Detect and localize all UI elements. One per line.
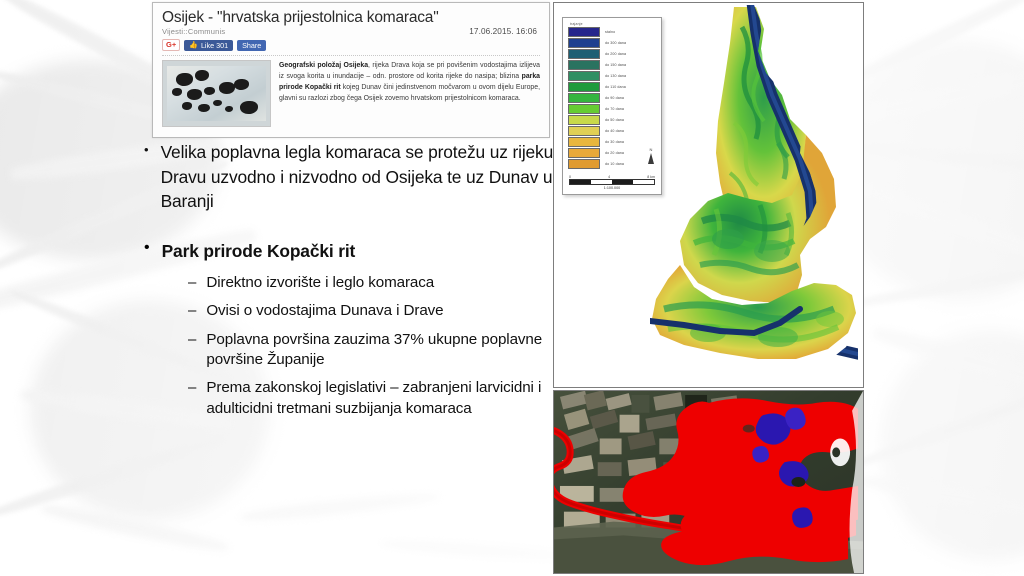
legend-title: trajanje: [570, 22, 657, 26]
scale-bar: 0 4 8 km 1:100.000: [569, 175, 655, 191]
legend-row: do 40 dana: [568, 126, 657, 136]
legend-swatch: [568, 137, 600, 147]
sub-bullet-text: Poplavna površina zauzima 37% ukupne pop…: [206, 330, 560, 371]
legend-row: stalno: [568, 27, 657, 37]
north-label: N: [648, 148, 654, 152]
legend-row: do 200 dana: [568, 49, 657, 59]
legend-label: do 70 dana: [605, 107, 624, 111]
bullet-marker-icon: •: [144, 239, 150, 264]
legend-swatch: [568, 159, 600, 169]
legend-label: do 150 dana: [605, 63, 626, 67]
legend-label: do 130 dana: [605, 74, 626, 78]
legend-row: do 30 dana: [568, 137, 657, 147]
sub-bullet-text: Ovisi o vodostajima Dunava i Drave: [206, 301, 443, 321]
clipping-divider: [162, 55, 540, 56]
sub-bullet-text: Direktno izvorište i leglo komaraca: [206, 273, 434, 293]
clipping-date: 17.06.2015. 16:06: [469, 27, 540, 36]
scale-tick-1: 4: [608, 175, 610, 179]
legend-row: do 130 dana: [568, 71, 657, 81]
thumbs-up-icon: 👍: [189, 42, 198, 49]
legend-label: do 200 dana: [605, 52, 626, 56]
legend-row: do 50 dana: [568, 115, 657, 125]
like-count-label: Like 301: [201, 42, 228, 49]
legend-label: stalno: [605, 30, 615, 34]
legend-swatch: [568, 38, 600, 48]
clipping-source: Vijesti::Communis: [162, 27, 225, 36]
legend-label: do 20 dana: [605, 151, 624, 155]
legend-label: do 300 dana: [605, 41, 626, 45]
legend-row: do 110 dana: [568, 82, 657, 92]
clipping-article-text: Geografski položaj Osijeka, rijeka Drava…: [279, 60, 540, 127]
bullet-2-text: Park prirode Kopački rit: [162, 239, 356, 264]
map-legend: trajanje stalnodo 300 danado 200 danado …: [562, 17, 662, 195]
dash-marker-icon: –: [188, 330, 196, 371]
share-button[interactable]: Share: [237, 40, 266, 51]
scale-ratio-label: 1:100.000: [569, 186, 655, 190]
mosquito-photo: [162, 60, 271, 127]
slide-body: • Velika poplavna legla komaraca se prot…: [140, 140, 560, 427]
dash-marker-icon: –: [188, 301, 196, 321]
legend-label: do 110 dana: [605, 85, 626, 89]
news-clipping: Osijek - "hrvatska prijestolnica komarac…: [152, 2, 550, 138]
flood-duration-map-panel: trajanje stalnodo 300 danado 200 danado …: [553, 2, 864, 388]
legend-swatch: [568, 93, 600, 103]
satellite-graphic: [554, 391, 863, 573]
legend-label: do 10 dana: [605, 162, 624, 166]
bullet-1-text: Velika poplavna legla komaraca se protež…: [161, 140, 560, 214]
scale-tick-0: 0: [569, 175, 571, 179]
legend-swatch: [568, 82, 600, 92]
bullet-marker-icon: •: [144, 140, 149, 214]
satellite-flood-panel: [553, 390, 864, 574]
legend-swatch: [568, 60, 600, 70]
flood-map-graphic: [650, 3, 864, 388]
clipping-meta: Vijesti::Communis 17.06.2015. 16:06: [162, 27, 540, 36]
sub-bullet-text: Prema zakonskoj legislativi – zabranjeni…: [206, 378, 560, 419]
sub-bullet-list: – Direktno izvorište i leglo komaraca – …: [188, 273, 560, 419]
sub-bullet-item: – Direktno izvorište i leglo komaraca: [188, 273, 560, 293]
legend-row: do 10 dana: [568, 159, 657, 169]
legend-row: do 90 dana: [568, 93, 657, 103]
dash-marker-icon: –: [188, 378, 196, 419]
legend-swatch: [568, 71, 600, 81]
facebook-like-button[interactable]: 👍 Like 301: [184, 40, 233, 51]
legend-swatch: [568, 148, 600, 158]
legend-swatch: [568, 115, 600, 125]
legend-swatch: [568, 104, 600, 114]
legend-label: do 50 dana: [605, 118, 624, 122]
north-arrow-icon: [648, 153, 654, 164]
sub-bullet-item: – Poplavna površina zauzima 37% ukupne p…: [188, 330, 560, 371]
legend-row: do 70 dana: [568, 104, 657, 114]
legend-swatch: [568, 126, 600, 136]
north-arrow: N: [648, 148, 654, 164]
legend-row: do 20 dana: [568, 148, 657, 158]
legend-label: do 40 dana: [605, 129, 624, 133]
sub-bullet-item: – Prema zakonskoj legislativi – zabranje…: [188, 378, 560, 419]
clipping-social-bar: G+ 👍 Like 301 Share: [162, 39, 540, 51]
legend-row: do 300 dana: [568, 38, 657, 48]
clipping-title: Osijek - "hrvatska prijestolnica komarac…: [162, 9, 540, 26]
legend-label: do 30 dana: [605, 140, 624, 144]
sub-bullet-item: – Ovisi o vodostajima Dunava i Drave: [188, 301, 560, 321]
google-plus-button[interactable]: G+: [162, 39, 180, 51]
bullet-item-2: • Park prirode Kopački rit: [144, 239, 560, 264]
legend-swatch: [568, 27, 600, 37]
article-lead: Geografski položaj Osijeka: [279, 62, 368, 69]
bullet-item-1: • Velika poplavna legla komaraca se prot…: [144, 140, 560, 214]
legend-row: do 150 dana: [568, 60, 657, 70]
dash-marker-icon: –: [188, 273, 196, 293]
legend-label: do 90 dana: [605, 96, 624, 100]
legend-swatch: [568, 49, 600, 59]
scale-tick-2: 8 km: [647, 175, 655, 179]
